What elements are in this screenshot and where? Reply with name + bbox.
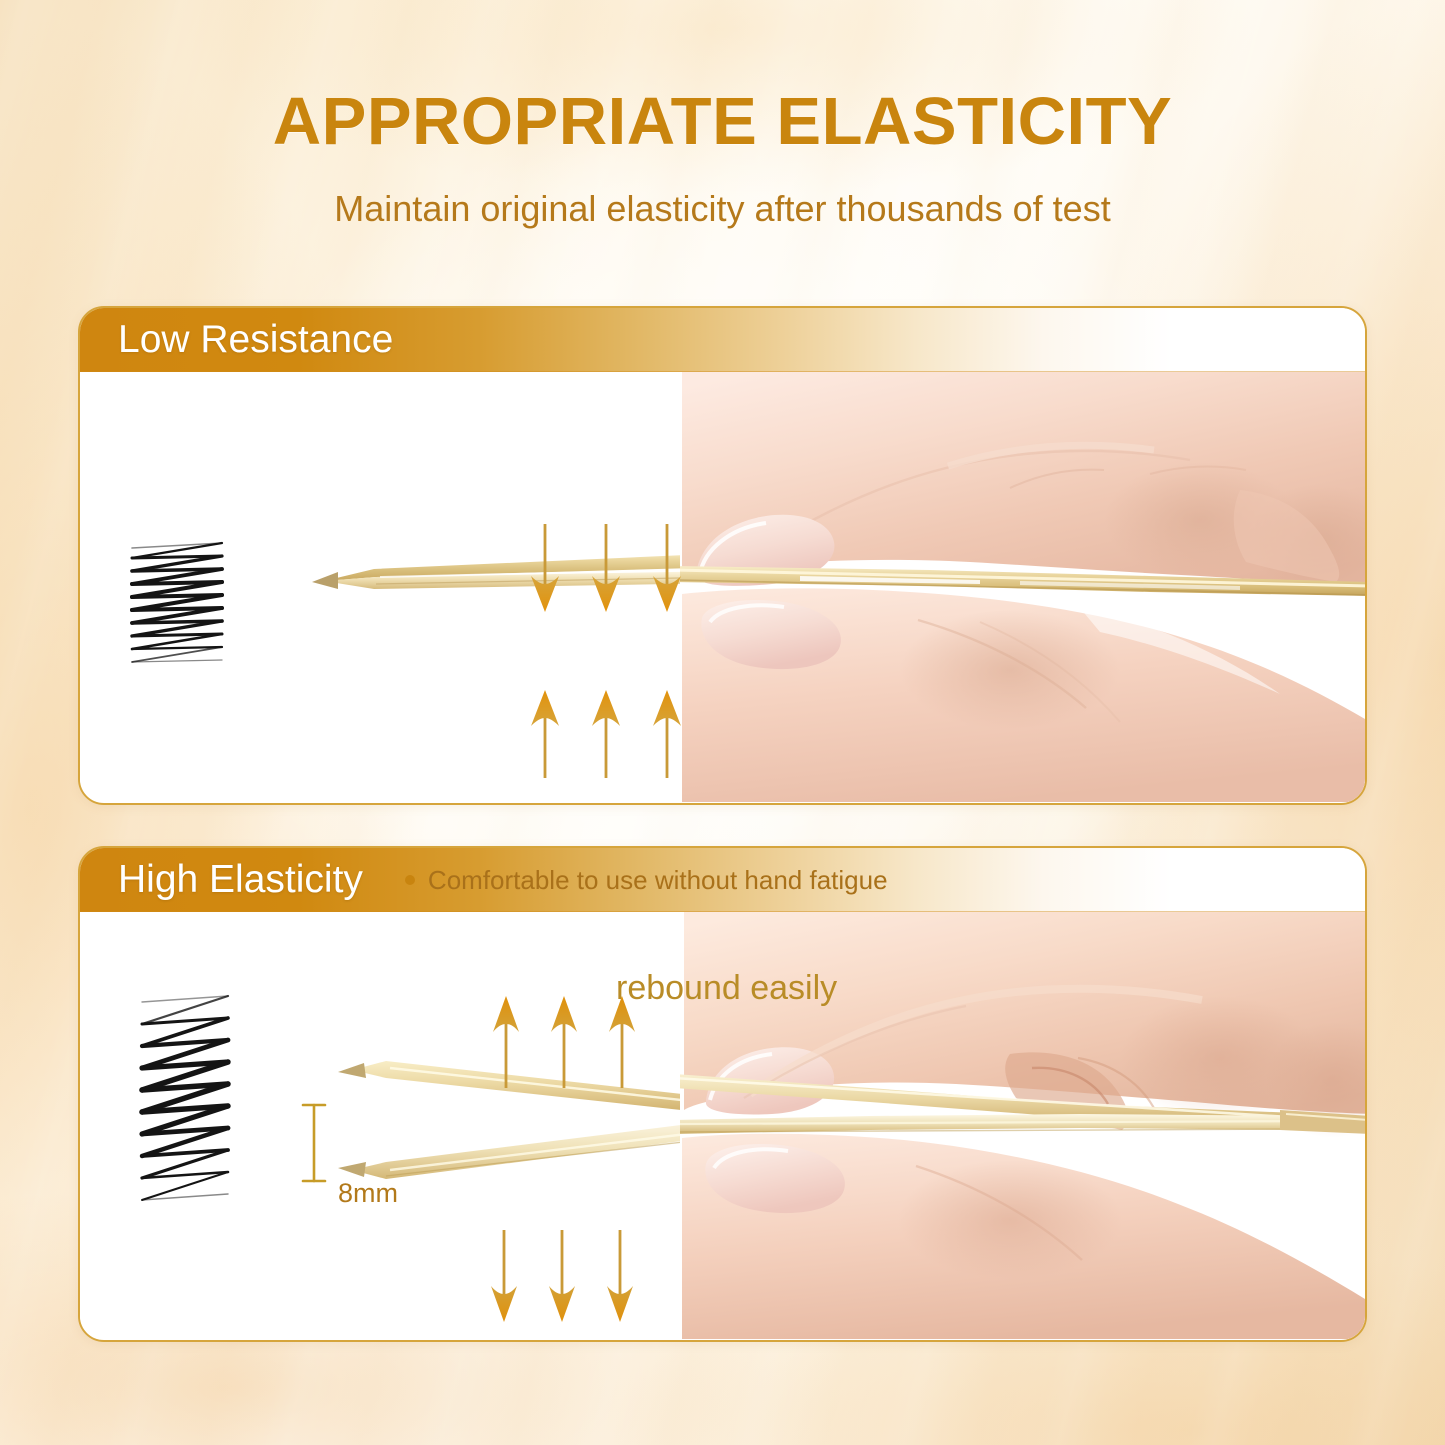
up-arrow-icon: [528, 690, 562, 778]
down-arrow-icon: [650, 524, 684, 612]
down-arrow-icon: [546, 1230, 578, 1322]
page-title: APPROPRIATE ELASTICITY: [0, 88, 1445, 155]
panel-title-low-resistance: Low Resistance: [118, 320, 393, 359]
panel-header-note: Comfortable to use without hand fatigue: [405, 867, 888, 893]
panel-high-elasticity: High Elasticity Comfortable to use witho…: [78, 846, 1367, 1342]
panel-body-low-resistance: [80, 372, 1365, 802]
up-arrow-icon: [490, 996, 522, 1088]
product-infographic: APPROPRIATE ELASTICITY Maintain original…: [0, 0, 1445, 1445]
down-arrows-low-resistance: [528, 524, 684, 612]
photo-hand-closed-tweezers: [680, 372, 1365, 802]
panel-low-resistance: Low Resistance: [78, 306, 1367, 805]
panel-body-high-elasticity: 8mm: [80, 912, 1365, 1339]
down-arrow-icon: [528, 524, 562, 612]
up-arrow-icon: [589, 690, 623, 778]
page-subtitle: Maintain original elasticity after thous…: [0, 191, 1445, 227]
up-arrows-high-elasticity: [490, 996, 638, 1088]
down-arrow-icon: [589, 524, 623, 612]
up-arrows-low-resistance: [528, 690, 684, 778]
down-arrow-icon: [488, 1230, 520, 1322]
panel-note-text: Comfortable to use without hand fatigue: [428, 867, 888, 893]
bullet-dot-icon: [405, 875, 415, 885]
expanded-spring-icon: [116, 992, 244, 1217]
up-arrow-icon: [548, 996, 580, 1088]
up-arrow-icon: [650, 690, 684, 778]
panel-header-low-resistance: Low Resistance: [80, 308, 1365, 372]
panel-header-high-elasticity: High Elasticity Comfortable to use witho…: [80, 848, 1365, 912]
page-heading-block: APPROPRIATE ELASTICITY Maintain original…: [0, 88, 1445, 227]
down-arrows-high-elasticity: [488, 1230, 636, 1322]
down-arrow-icon: [604, 1230, 636, 1322]
compressed-spring-icon: [122, 540, 232, 670]
panel-title-high-elasticity: High Elasticity: [118, 860, 363, 899]
up-arrow-icon: [606, 996, 638, 1088]
rebound-easily-label: rebound easily: [616, 971, 837, 1005]
